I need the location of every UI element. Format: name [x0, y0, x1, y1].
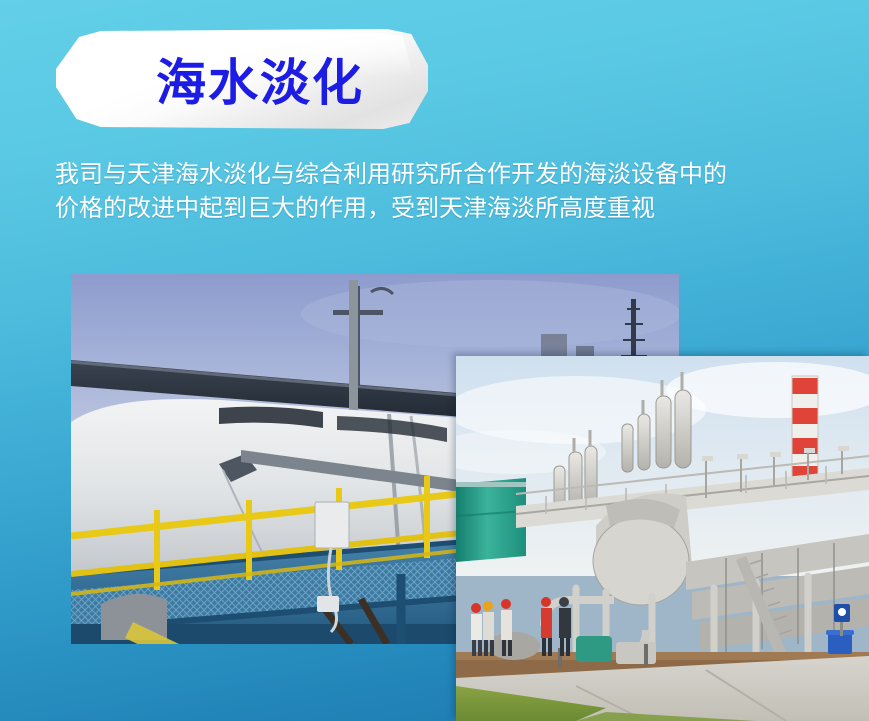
- body-copy-line-1: 我司与天津海水淡化与综合利用研究所合作开发的海淡设备中的: [55, 158, 869, 192]
- desalination-plant-overview-photo: [456, 356, 869, 721]
- page-title: 海水淡化: [56, 43, 428, 115]
- body-copy-line-2: 价格的改进中起到巨大的作用，受到天津海淡所高度重视: [55, 192, 869, 226]
- title-badge: 海水淡化: [56, 29, 428, 129]
- slide-root: 海水淡化 我司与天津海水淡化与综合利用研究所合作开发的海淡设备中的 价格的改进中…: [0, 0, 869, 721]
- body-copy: 我司与天津海水淡化与综合利用研究所合作开发的海淡设备中的 价格的改进中起到巨大的…: [55, 158, 869, 226]
- plant-overview-illustration: [456, 356, 869, 721]
